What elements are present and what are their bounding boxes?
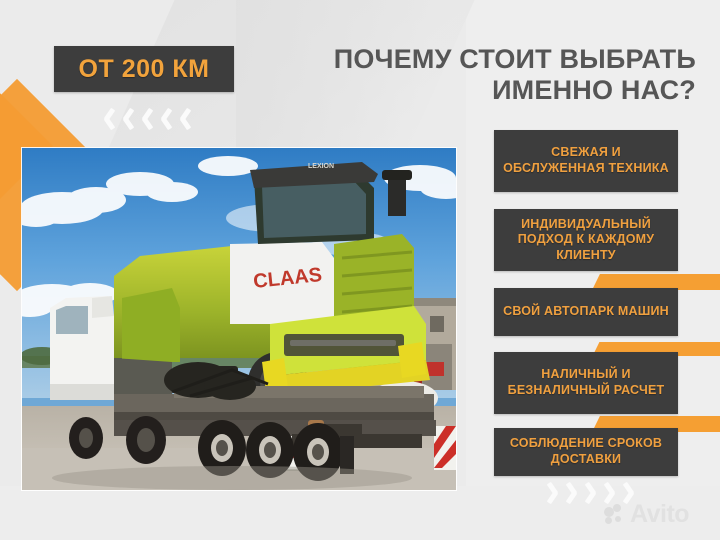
feature-box-1: СВЕЖАЯ И ОБСЛУЖЕННАЯ ТЕХНИКА bbox=[494, 130, 678, 192]
hero-photo: CLAAS LEXION bbox=[22, 148, 456, 490]
chevron-left-group bbox=[100, 108, 192, 130]
page-title: ПОЧЕМУ СТОИТ ВЫБРАТЬ ИМЕННО НАС? bbox=[298, 44, 696, 106]
chevron-right-icon bbox=[584, 482, 600, 504]
avito-watermark-label: Avito bbox=[630, 502, 689, 527]
page-title-line-2: ИМЕННО НАС? bbox=[298, 75, 696, 106]
svg-text:LEXION: LEXION bbox=[308, 163, 334, 170]
feature-box-3: СВОЙ АВТОПАРК МАШИН bbox=[494, 288, 678, 336]
feature-box-1-label: СВЕЖАЯ И ОБСЛУЖЕННАЯ ТЕХНИКА bbox=[494, 145, 678, 176]
chevron-left-icon bbox=[176, 108, 192, 130]
feature-box-5-label: СОБЛЮДЕНИЕ СРОКОВ ДОСТАВКИ bbox=[494, 436, 678, 467]
hero-photo-illustration: CLAAS LEXION bbox=[22, 148, 456, 490]
chevron-right-icon bbox=[603, 482, 619, 504]
feature-box-4-label: НАЛИЧНЫЙ И БЕЗНАЛИЧНЫЙ РАСЧЕТ bbox=[494, 367, 678, 398]
chevron-right-icon bbox=[546, 482, 562, 504]
chevron-left-icon bbox=[138, 108, 154, 130]
chevron-right-icon bbox=[565, 482, 581, 504]
avito-watermark: Avito bbox=[604, 502, 689, 527]
feature-box-4: НАЛИЧНЫЙ И БЕЗНАЛИЧНЫЙ РАСЧЕТ bbox=[494, 352, 678, 414]
feature-box-2-label: ИНДИВИДУАЛЬНЫЙ ПОДХОД К КАЖДОМУ КЛИЕНТУ bbox=[494, 217, 678, 264]
chevron-left-icon bbox=[100, 108, 116, 130]
avito-logo-icon bbox=[604, 504, 626, 526]
chevron-left-icon bbox=[157, 108, 173, 130]
chevron-left-icon bbox=[119, 108, 135, 130]
distance-badge-label: ОТ 200 КМ bbox=[79, 55, 210, 84]
page-title-line-1: ПОЧЕМУ СТОИТ ВЫБРАТЬ bbox=[334, 44, 696, 74]
feature-box-5: СОБЛЮДЕНИЕ СРОКОВ ДОСТАВКИ bbox=[494, 428, 678, 476]
poster-canvas: ОТ 200 КМ ПОЧЕМУ СТОИТ ВЫБРАТЬ ИМЕННО НА… bbox=[0, 0, 720, 540]
feature-box-3-label: СВОЙ АВТОПАРК МАШИН bbox=[497, 304, 675, 320]
chevron-right-group bbox=[546, 482, 638, 504]
distance-badge: ОТ 200 КМ bbox=[54, 46, 234, 92]
feature-box-2: ИНДИВИДУАЛЬНЫЙ ПОДХОД К КАЖДОМУ КЛИЕНТУ bbox=[494, 209, 678, 271]
